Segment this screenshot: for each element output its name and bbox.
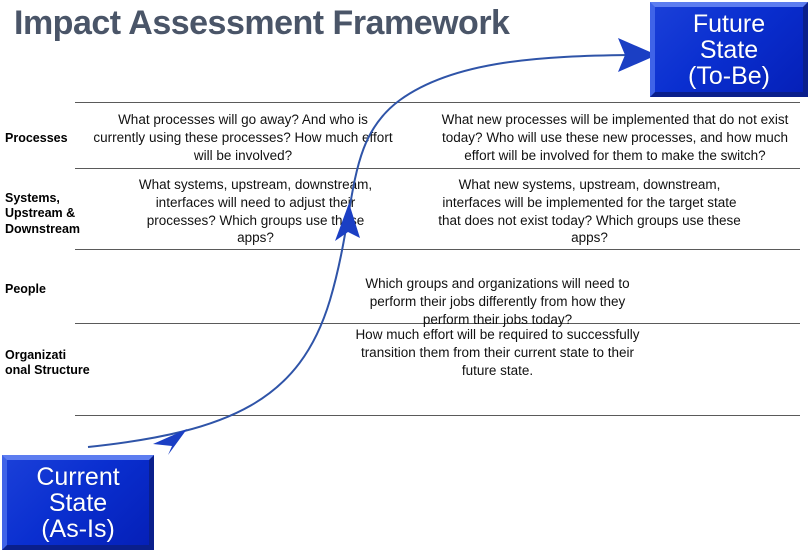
row-label-text: Organizati onal Structure <box>5 348 90 377</box>
row-label-text: Systems, Upstream & Downstream <box>5 191 80 236</box>
cell-systems-future: What new systems, upstream, downstream, … <box>432 176 747 247</box>
cell-people-future: Which groups and organizations will need… <box>355 275 640 328</box>
current-state-line-3: (As-Is) <box>7 516 149 542</box>
slide-canvas: Impact Assessment Framework Processes Sy… <box>0 0 810 552</box>
cell-processes-current: What processes will go away? And who is … <box>93 111 393 164</box>
row-label-processes: Processes <box>5 131 91 146</box>
future-state-box[interactable]: Future State (To-Be) <box>650 2 808 97</box>
future-state-line-2: State <box>655 37 803 63</box>
future-state-line-3: (To-Be) <box>655 63 803 89</box>
divider-top <box>75 102 800 103</box>
row-label-people: People <box>5 282 91 297</box>
row-label-text: Processes <box>5 131 68 145</box>
cell-orgstructure-future: How much effort will be required to succ… <box>355 326 640 379</box>
cell-systems-current: What systems, upstream, downstream, inte… <box>128 176 383 247</box>
current-state-box[interactable]: Current State (As-Is) <box>2 455 154 550</box>
divider-row-2 <box>75 249 800 250</box>
row-label-organizational-structure: Organizati onal Structure <box>5 348 91 379</box>
page-title: Impact Assessment Framework <box>14 4 509 43</box>
divider-row-1 <box>75 168 800 169</box>
current-state-line-1: Current <box>7 464 149 490</box>
divider-bottom <box>75 415 800 416</box>
row-label-text: People <box>5 282 46 296</box>
cell-processes-future: What new processes will be implemented t… <box>425 111 805 164</box>
future-state-line-1: Future <box>655 11 803 37</box>
curve-arrowhead-lower <box>153 429 187 455</box>
current-state-line-2: State <box>7 490 149 516</box>
row-label-systems: Systems, Upstream & Downstream <box>5 191 91 237</box>
